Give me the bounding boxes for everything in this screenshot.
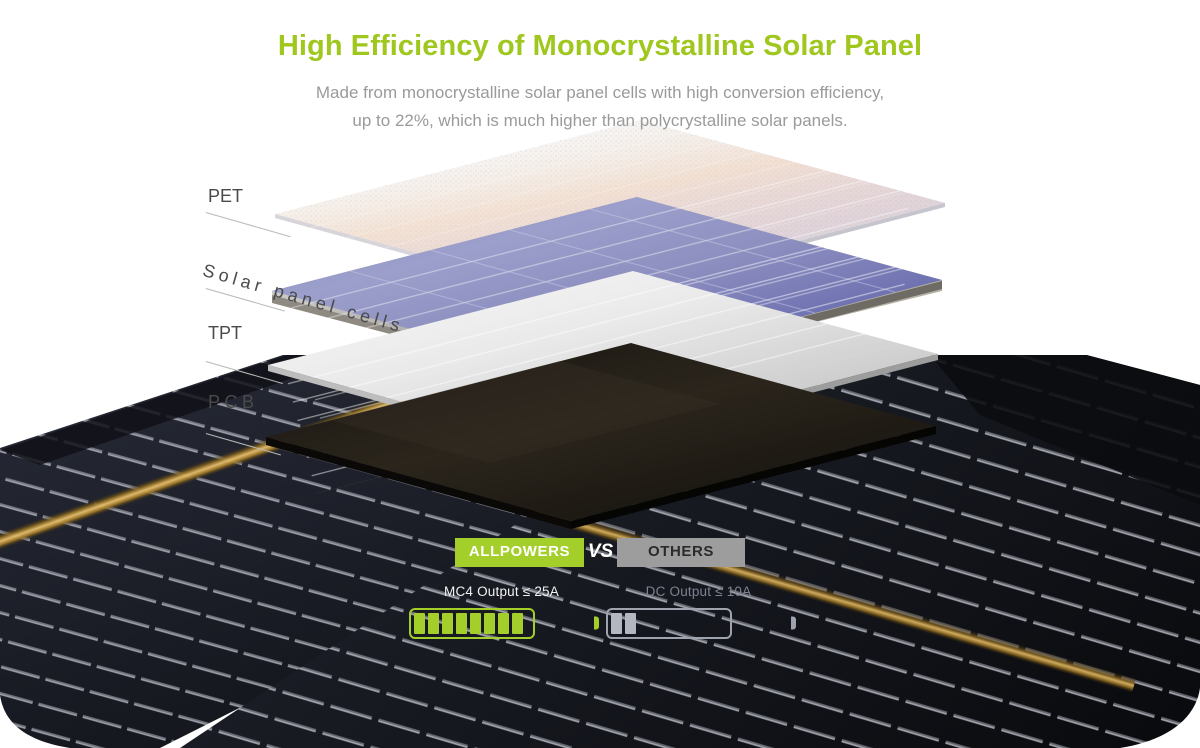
battery-segment <box>512 613 523 634</box>
brand-battery-body <box>409 608 535 639</box>
brand-output-column: MC4 Output ≤ 25A <box>409 584 594 639</box>
others-output-label: DC Output ≤ 10A <box>606 584 791 599</box>
layer-label-tpt: TPT <box>208 323 242 344</box>
page-title: High Efficiency of Monocrystalline Solar… <box>0 30 1200 63</box>
battery-segment-empty <box>681 613 692 634</box>
battery-segment-empty <box>695 613 706 634</box>
comparison-block: ALLPOWERS VS OTHERS MC4 Output ≤ 25A <box>0 538 1200 639</box>
comparison-outputs: MC4 Output ≤ 25A <box>0 584 1200 639</box>
battery-segment-empty <box>723 613 734 634</box>
vs-label: VS <box>584 541 617 563</box>
battery-segment <box>498 613 509 634</box>
brand-battery-indicator <box>409 608 594 639</box>
infographic-root: PET Solar panel cells TPT PCB ALLPOWERS … <box>0 0 1200 748</box>
page-subtitle: Made from monocrystalline solar panel ce… <box>0 79 1200 135</box>
layer-label-pet: PET <box>208 186 243 207</box>
others-battery-body <box>606 608 732 639</box>
battery-segment-empty <box>639 613 650 634</box>
battery-segment <box>611 613 622 634</box>
battery-segment <box>484 613 495 634</box>
battery-segment-empty <box>667 613 678 634</box>
brand-output-label: MC4 Output ≤ 25A <box>409 584 594 599</box>
brand-badge: ALLPOWERS <box>455 538 584 567</box>
battery-segment <box>442 613 453 634</box>
layer-label-pcb: PCB <box>208 392 259 413</box>
battery-cap <box>594 617 599 630</box>
others-badge: OTHERS <box>617 538 745 567</box>
others-battery-indicator <box>606 608 791 639</box>
battery-segment <box>428 613 439 634</box>
battery-segment <box>625 613 636 634</box>
subtitle-line-2: up to 22%, which is much higher than pol… <box>0 107 1200 135</box>
battery-segment <box>470 613 481 634</box>
comparison-badges: ALLPOWERS VS OTHERS <box>0 538 1200 567</box>
subtitle-line-1: Made from monocrystalline solar panel ce… <box>0 79 1200 107</box>
battery-segment <box>456 613 467 634</box>
header: High Efficiency of Monocrystalline Solar… <box>0 0 1200 135</box>
battery-segment <box>414 613 425 634</box>
battery-segment-empty <box>709 613 720 634</box>
battery-cap <box>791 617 796 630</box>
others-output-column: DC Output ≤ 10A <box>606 584 791 639</box>
battery-segment-empty <box>526 613 537 634</box>
battery-segment-empty <box>653 613 664 634</box>
